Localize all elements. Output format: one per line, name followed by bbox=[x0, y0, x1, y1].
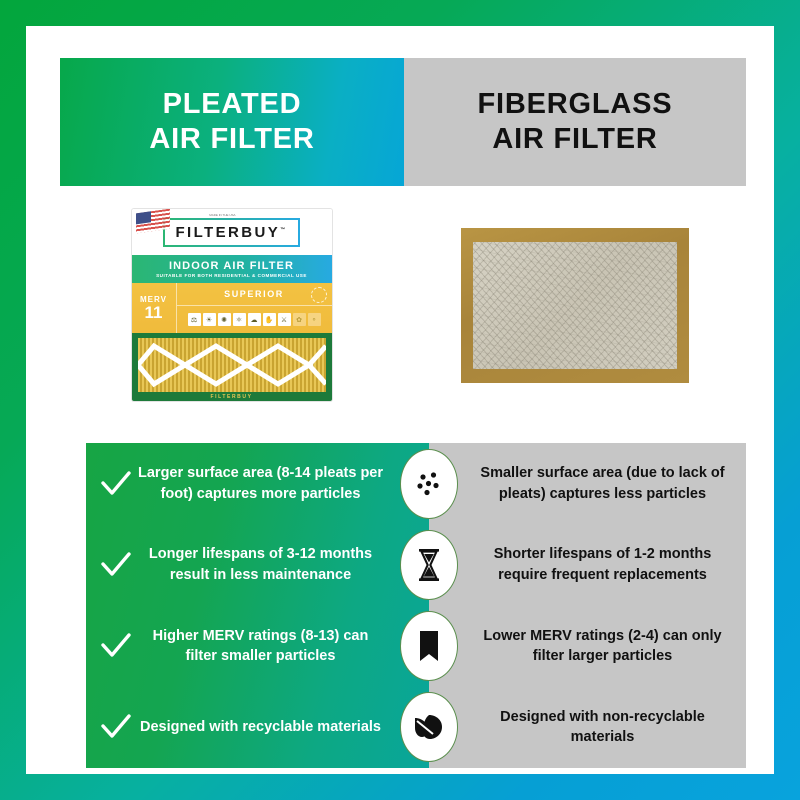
check-icon bbox=[94, 471, 138, 497]
hourglass-icon bbox=[400, 530, 458, 600]
check-icon bbox=[94, 633, 138, 659]
row-right-text-2: Shorter lifespans of 1-2 months require … bbox=[429, 544, 746, 585]
pleat-fabric bbox=[138, 338, 326, 392]
row-left-text-3: Higher MERV ratings (8-13) can filter sm… bbox=[138, 626, 383, 667]
merv-value: 11 bbox=[145, 304, 163, 321]
feature-icon-strip: ⚖ ☀ ✺ ⚛ ☁ ✋ ⚔ ✿ ⚬ bbox=[177, 306, 332, 333]
comparison-row: Larger surface area (8-14 pleats per foo… bbox=[86, 443, 746, 524]
check-icon bbox=[94, 714, 138, 740]
fiberglass-product-cell bbox=[403, 194, 746, 416]
pollen-icon: ☀ bbox=[203, 313, 216, 326]
fiberglass-filter-image bbox=[461, 228, 689, 383]
suitable-use-text: SUITABLE FOR BOTH RESIDENTIAL & COMMERCI… bbox=[156, 273, 307, 278]
bulb-icon: ⚬ bbox=[308, 313, 321, 326]
pleated-foot-brand: FILTERBUY bbox=[132, 394, 332, 400]
header-fiberglass: FIBERGLASS AIR FILTER bbox=[404, 58, 746, 186]
row-right-text-1: Smaller surface area (due to lack of ple… bbox=[429, 463, 746, 504]
pleated-media-area: FILTERBUY bbox=[132, 333, 332, 401]
white-card: PLEATED AIR FILTER FIBERGLASS AIR FILTER… bbox=[26, 26, 774, 774]
header-band: PLEATED AIR FILTER FIBERGLASS AIR FILTER bbox=[60, 58, 746, 186]
filterbuy-logo-text: FILTERBUY bbox=[175, 224, 280, 241]
comparison-panel: Larger surface area (8-14 pleats per foo… bbox=[86, 443, 746, 768]
tier-label: SUPERIOR bbox=[177, 283, 332, 306]
trademark-symbol: ™ bbox=[280, 227, 287, 233]
merv-badge: MERV 11 bbox=[132, 283, 177, 333]
bacteria-icon: ⚛ bbox=[233, 313, 246, 326]
header-fiberglass-line2: AIR FILTER bbox=[492, 122, 657, 157]
leaf-icon: ✿ bbox=[293, 313, 306, 326]
header-pleated-line2: AIR FILTER bbox=[149, 122, 314, 157]
comparison-row: Higher MERV ratings (8-13) can filter sm… bbox=[86, 606, 746, 687]
comparison-rows: Larger surface area (8-14 pleats per foo… bbox=[86, 443, 746, 768]
comparison-row: Longer lifespans of 3-12 months result i… bbox=[86, 524, 746, 605]
pleated-product-cell: MADE IN THE USA FILTERBUY™ INDOOR AIR FI… bbox=[60, 194, 403, 416]
check-icon bbox=[94, 552, 138, 578]
row-left-text-2: Longer lifespans of 3-12 months result i… bbox=[138, 544, 383, 585]
pet-dander-icon: ✋ bbox=[263, 313, 276, 326]
row-left-text-1: Larger surface area (8-14 pleats per foo… bbox=[138, 463, 383, 504]
header-pleated: PLEATED AIR FILTER bbox=[60, 58, 404, 186]
row-left-4: Designed with recyclable materials bbox=[86, 714, 429, 740]
row-left-3: Higher MERV ratings (8-13) can filter sm… bbox=[86, 626, 429, 667]
product-images-row: MADE IN THE USA FILTERBUY™ INDOOR AIR FI… bbox=[60, 194, 746, 416]
infographic-root: PLEATED AIR FILTER FIBERGLASS AIR FILTER… bbox=[0, 0, 800, 800]
bookmark-icon bbox=[400, 611, 458, 681]
dust-icon: ⚖ bbox=[188, 313, 201, 326]
row-left-2: Longer lifespans of 3-12 months result i… bbox=[86, 544, 429, 585]
pleated-label-top: MADE IN THE USA FILTERBUY™ bbox=[132, 209, 332, 255]
header-pleated-line1: PLEATED bbox=[163, 87, 302, 122]
diamond-lattice-icon bbox=[138, 338, 326, 392]
made-in-usa-text: MADE IN THE USA bbox=[209, 213, 235, 218]
comparison-row: Designed with recyclable materials Desig… bbox=[86, 687, 746, 768]
row-right-text-4: Designed with non-recyclable materials bbox=[429, 707, 746, 748]
indoor-air-filter-text: INDOOR AIR FILTER bbox=[169, 260, 294, 272]
filterbuy-logo: FILTERBUY™ bbox=[163, 218, 299, 247]
pleated-label-band: INDOOR AIR FILTER SUITABLE FOR BOTH RESI… bbox=[132, 255, 332, 283]
quality-seal-icon bbox=[311, 287, 327, 303]
fiberglass-mesh bbox=[473, 242, 677, 369]
tier-label-text: SUPERIOR bbox=[224, 289, 284, 299]
header-fiberglass-line1: FIBERGLASS bbox=[478, 87, 673, 122]
row-left-1: Larger surface area (8-14 pleats per foo… bbox=[86, 463, 429, 504]
pleated-label-gold-right: SUPERIOR ⚖ ☀ ✺ ⚛ ☁ ✋ ⚔ ✿ bbox=[177, 283, 332, 333]
mold-icon: ✺ bbox=[218, 313, 231, 326]
smoke-icon: ☁ bbox=[248, 313, 261, 326]
allergen-icon: ⚔ bbox=[278, 313, 291, 326]
pleated-label-gold: MERV 11 SUPERIOR ⚖ ☀ ✺ bbox=[132, 283, 332, 333]
row-left-text-4: Designed with recyclable materials bbox=[138, 717, 383, 738]
leaf-icon bbox=[400, 692, 458, 762]
row-right-text-3: Lower MERV ratings (2-4) can only filter… bbox=[429, 626, 746, 667]
particles-icon bbox=[400, 449, 458, 519]
pleated-filter-image: MADE IN THE USA FILTERBUY™ INDOOR AIR FI… bbox=[132, 209, 332, 401]
